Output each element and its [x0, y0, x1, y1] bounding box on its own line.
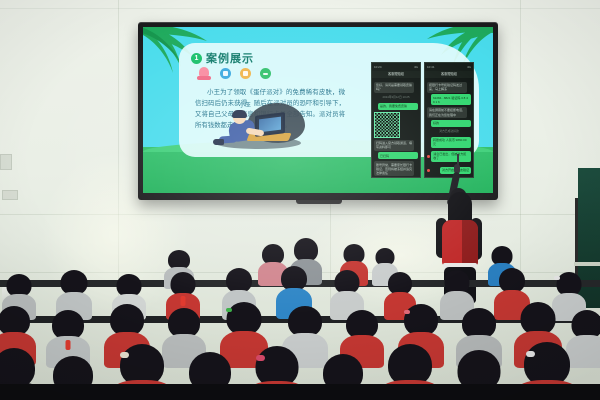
phone-chat-body: 您好，请问是需要领取皮肤吗？ 2024年3月12日 10:25 是的，我要免费皮… [372, 78, 420, 178]
phone-status-network: 4G [414, 65, 418, 69]
chat-bubble: 已扫码 [378, 152, 418, 159]
chat-bubble: 好的 [431, 120, 471, 127]
classroom-scene: 1 案例展示 小王为了领取《蛋仔派对》的免费稀有皮肤，微信扫码后仍未获得。随后在… [0, 0, 600, 400]
chat-timestamp: 2024年3月12日 10:25 [374, 94, 418, 101]
chat-bubble: 把银行卡号和验证码发过来，马上解冻 [427, 82, 467, 93]
phone-status-bar: 10:24 4G [372, 63, 420, 71]
chat-bubble: 请在屏幕前不要挂断电话，我们正在为您处理中 [427, 107, 467, 118]
phone-status-bar: 10:41 4G [425, 63, 473, 71]
chat-bubble: 转账成功 人民币 9860.00 元 [431, 137, 471, 148]
seated-students [0, 240, 600, 400]
alert-dot-icon [427, 169, 430, 172]
wall-seam [0, 214, 600, 215]
wall-seam [0, 8, 600, 9]
badge-orange-icon [240, 68, 251, 79]
slide-heading-text: 案例展示 [206, 50, 254, 66]
phone-chat-body: 把银行卡号和验证码发过来，马上解冻 62284...8821 验证码 3 8 4… [425, 78, 473, 178]
phone-status-network: 4G [467, 65, 471, 69]
child-at-laptop-illustration [203, 99, 311, 151]
foreground-floor [0, 384, 600, 400]
display-mount [296, 200, 342, 204]
phone-status-time: 10:24 [374, 65, 382, 69]
chat-bubble: 62284...8821 验证码 3 8 4 9 1 6 [431, 94, 471, 105]
chat-bubble: 您好，请问是需要领取皮肤吗？ [374, 82, 414, 93]
badge-green-icon [260, 68, 271, 79]
qr-code-image [374, 112, 400, 138]
chat-system-note: 对方已成功扣款 [427, 128, 471, 135]
phone-screenshot-left: 10:24 4G 客服理赔组 您好，请问是需要领取皮肤吗？ 2024年3月12日… [371, 62, 421, 178]
badge-blue-icon [220, 68, 231, 79]
slide-content-card: 1 案例展示 小王为了领取《蛋仔派对》的免费稀有皮肤，微信扫码后仍未获得。随后在… [179, 43, 479, 157]
chat-alert-row: 消息已发出，但被对方拒收了 [427, 149, 471, 163]
phone-chat-title: 客服理赔组 [425, 71, 473, 78]
phone-chat-title: 客服理赔组 [372, 71, 420, 78]
wall-switch [2, 190, 18, 200]
alert-dot-icon [427, 155, 430, 158]
siren-icon [197, 67, 211, 80]
phone-status-time: 10:41 [427, 65, 435, 69]
chat-bubble: 账号异常，需要家长银行卡验证，否则将被冻结并追究法律责任 [374, 161, 414, 176]
slide-heading: 1 案例展示 [191, 50, 254, 66]
chat-bubble: 消息已发出，但被对方拒收了 [431, 151, 471, 162]
slide-badge-row [197, 67, 271, 80]
chat-bubble: 是的，我要免费皮肤 [378, 103, 418, 110]
wall-outlet [0, 154, 12, 170]
chat-bubble: 扫码进入官方领取通道，填写资料即可 [374, 140, 414, 151]
slide-heading-number: 1 [191, 53, 202, 64]
phone-screenshot-right: 10:41 4G 客服理赔组 把银行卡号和验证码发过来，马上解冻 62284..… [424, 62, 474, 178]
